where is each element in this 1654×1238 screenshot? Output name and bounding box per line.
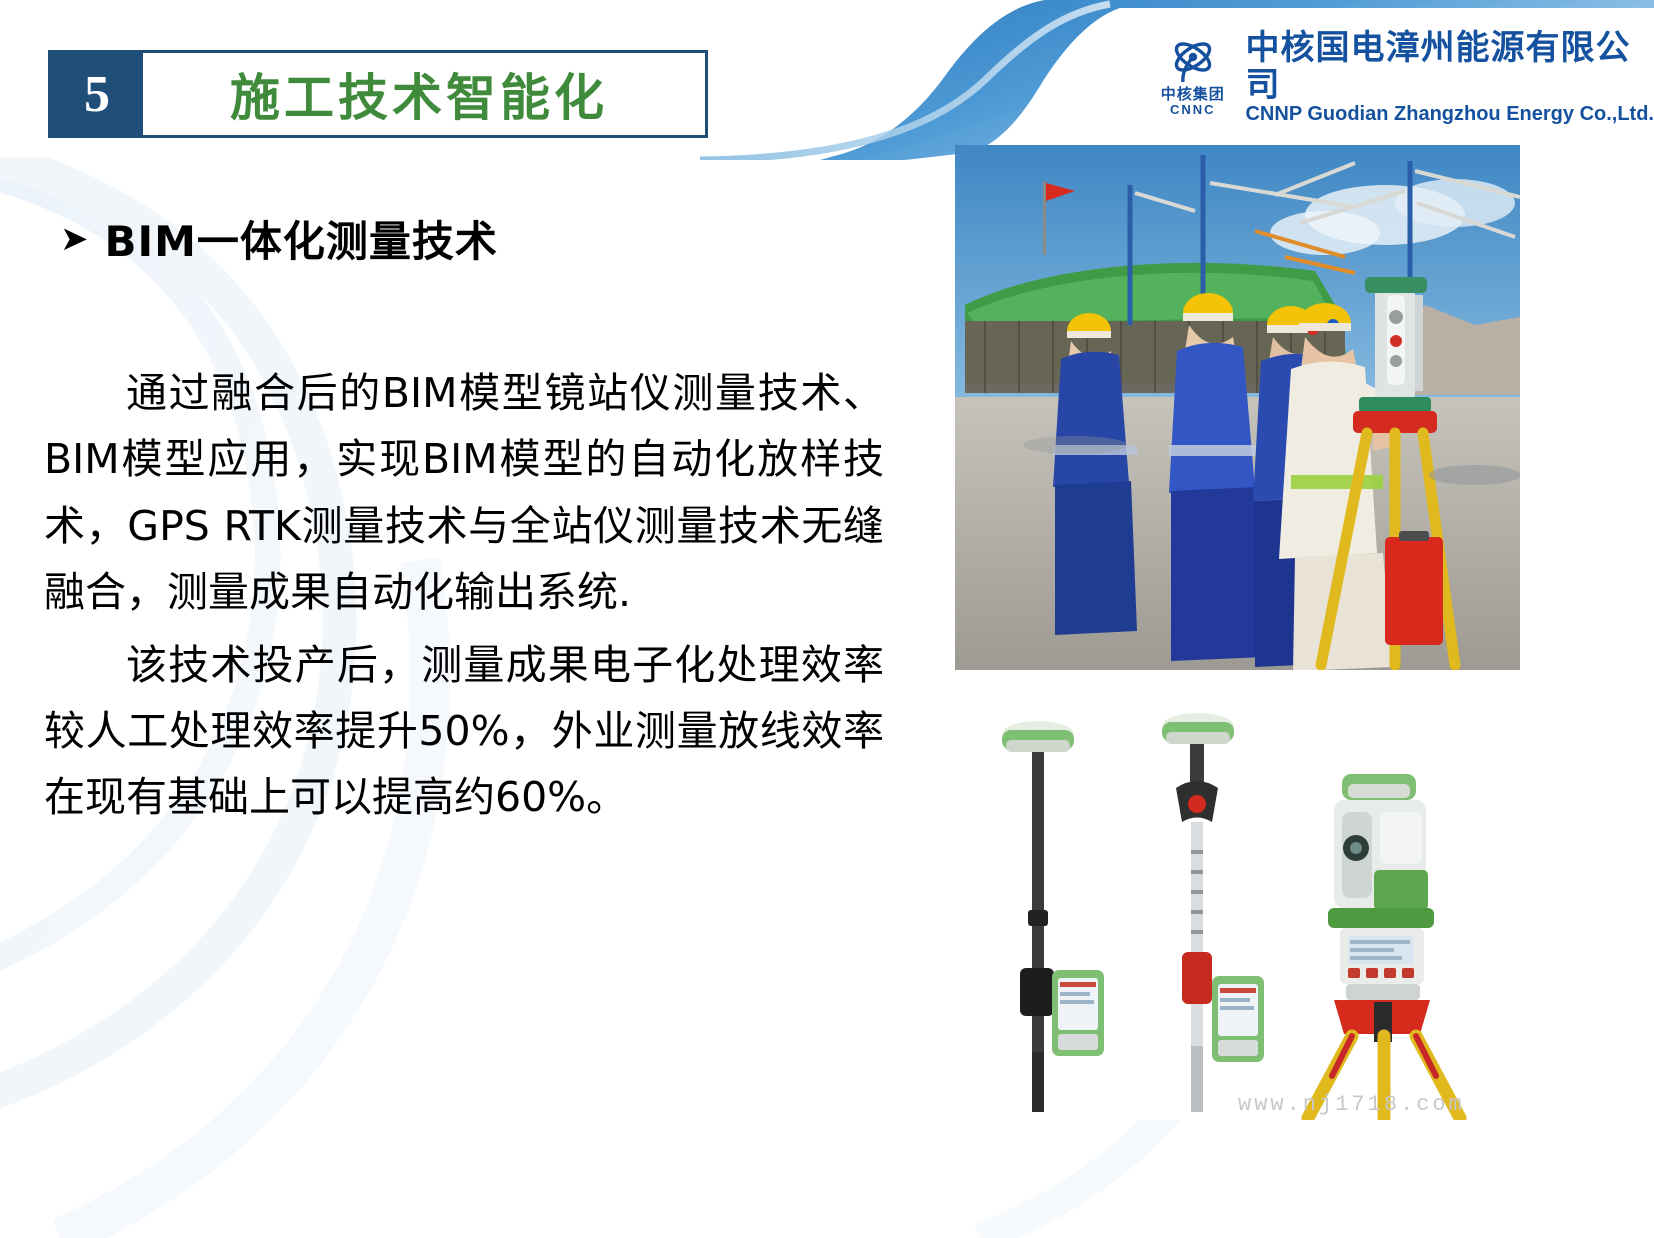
equipment-illustration [960, 700, 1520, 1120]
slide-canvas: 5 施工技术智能化 中核集团 CNNC 中核国电漳州能源有限公司 CNNP Gu… [0, 0, 1654, 1238]
survey-equipment-photo [960, 700, 1520, 1120]
bullet-heading: ➤ BIM一体化测量技术 [60, 208, 498, 269]
bullet-heading-label: BIM一体化测量技术 [105, 208, 498, 269]
page-title: 施工技术智能化 [143, 53, 705, 135]
arrow-bullet-icon: ➤ [60, 222, 89, 256]
company-name-block: 中核国电漳州能源有限公司 CNNP Guodian Zhangzhou Ener… [1245, 30, 1654, 126]
image-watermark: www.nj1718.com [1238, 1092, 1465, 1117]
paragraph-2: 该技术投产后，测量成果电子化处理效率较人工处理效率提升50%，外业测量放线效率在… [44, 632, 884, 831]
slide-title-bar: 5 施工技术智能化 [48, 50, 708, 138]
cnnc-logo-mark: 中核集团 CNNC [1148, 37, 1237, 117]
paragraph-1: 通过融合后的BIM模型镜站仪测量技术、BIM模型应用，实现BIM模型的自动化放样… [44, 360, 884, 626]
slide-number-badge: 5 [51, 53, 143, 135]
body-text: 通过融合后的BIM模型镜站仪测量技术、BIM模型应用，实现BIM模型的自动化放样… [44, 360, 884, 837]
company-name-english: CNNP Guodian Zhangzhou Energy Co.,Ltd. [1245, 103, 1654, 126]
construction-site-photo [955, 145, 1520, 670]
site-photo-illustration [955, 145, 1520, 670]
logo-mark-chinese: 中核集团 [1161, 86, 1225, 103]
company-logo: 中核集团 CNNC 中核国电漳州能源有限公司 CNNP Guodian Zhan… [1148, 28, 1654, 126]
company-name-chinese: 中核国电漳州能源有限公司 [1245, 30, 1654, 103]
atom-icon [1160, 37, 1226, 85]
logo-mark-english: CNNC [1170, 103, 1216, 117]
